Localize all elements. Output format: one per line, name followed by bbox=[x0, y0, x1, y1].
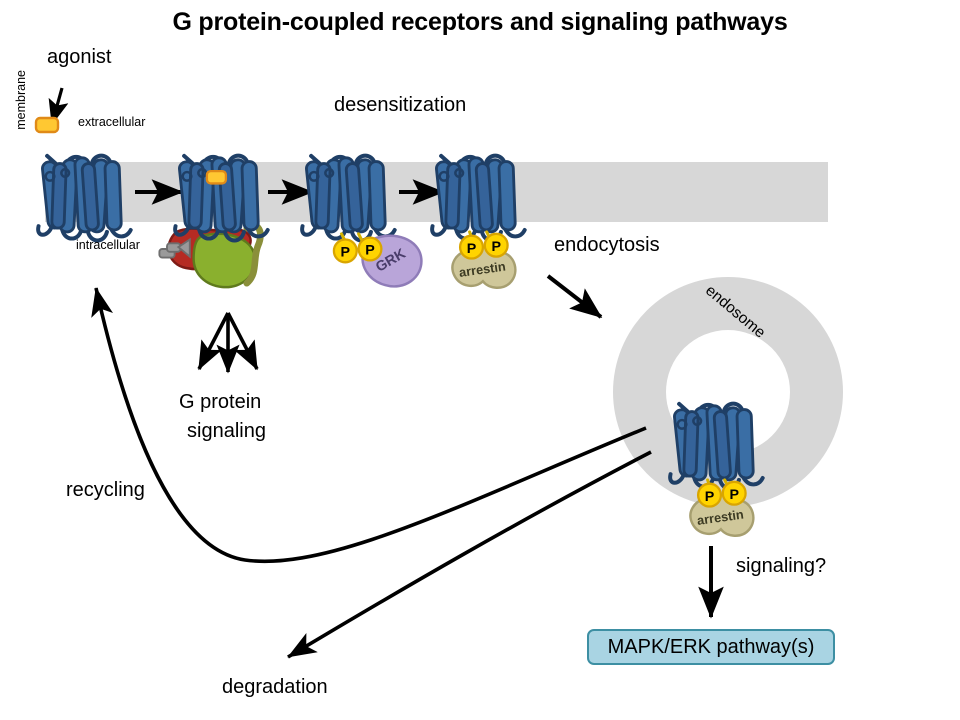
g-protein-complex bbox=[159, 226, 260, 288]
label-g-protein-line1: G protein bbox=[179, 391, 261, 414]
label-degradation: degradation bbox=[222, 676, 328, 699]
label-membrane: membrane bbox=[14, 70, 28, 150]
label-desensitization: desensitization bbox=[334, 94, 466, 117]
label-signaling-question: signaling? bbox=[736, 555, 826, 578]
receptor-stage-4: arrestin P P bbox=[432, 156, 525, 288]
label-g-protein-line2: signaling bbox=[187, 420, 266, 443]
diagram-canvas: GRK P P arrestin P P bbox=[0, 0, 960, 720]
phosphate-label: P bbox=[705, 489, 715, 505]
g-protein-signaling-arrows bbox=[199, 313, 257, 372]
mapk-erk-pathway-box[interactable]: MAPK/ERK pathway(s) bbox=[587, 629, 835, 665]
mapk-erk-pathway-label: MAPK/ERK pathway(s) bbox=[608, 636, 815, 659]
receptor-stage-1 bbox=[38, 156, 131, 241]
diagram-graphics: GRK P P arrestin P P bbox=[0, 0, 960, 720]
recycling-curve bbox=[96, 288, 646, 561]
label-intracellular: intracellular bbox=[76, 238, 140, 252]
label-agonist: agonist bbox=[47, 46, 112, 69]
degradation-curve bbox=[288, 452, 651, 657]
label-extracellular: extracellular bbox=[78, 115, 145, 129]
phosphate-label: P bbox=[729, 487, 739, 503]
label-endocytosis: endocytosis bbox=[554, 234, 660, 257]
phosphate-label: P bbox=[467, 241, 477, 257]
page-title: G protein-coupled receptors and signalin… bbox=[0, 8, 960, 37]
phosphate-label: P bbox=[341, 245, 351, 261]
label-recycling: recycling bbox=[66, 479, 145, 502]
receptor-stage-5: arrestin P P bbox=[670, 404, 763, 536]
phosphate-label: P bbox=[491, 239, 501, 255]
endocytosis-arrow bbox=[548, 276, 601, 317]
agonist-ligand bbox=[36, 118, 58, 132]
g-beta-gamma-subunit bbox=[194, 234, 255, 287]
phosphate-label: P bbox=[365, 243, 375, 259]
agonist-bound bbox=[207, 171, 226, 183]
